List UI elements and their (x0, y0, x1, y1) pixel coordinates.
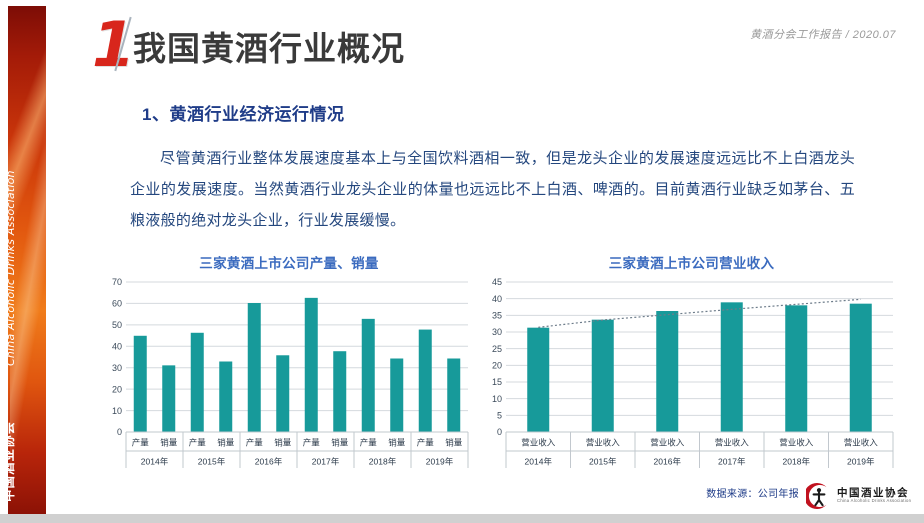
svg-text:15: 15 (492, 377, 502, 387)
svg-text:产量: 产量 (303, 437, 321, 447)
body-paragraph: 尽管黄酒行业整体发展速度基本上与全国饮料酒相一致，但是龙头企业的发展速度远远比不… (130, 143, 855, 236)
svg-text:30: 30 (492, 327, 502, 337)
logo-mark-svg (806, 483, 832, 509)
svg-text:10: 10 (112, 406, 122, 416)
svg-text:5: 5 (497, 411, 502, 421)
svg-text:0: 0 (497, 427, 502, 437)
svg-text:2014年: 2014年 (525, 456, 553, 466)
chart-operating-revenue: 三家黄酒上市公司营业收入 051015202530354045营业收入营业收入营… (484, 252, 899, 467)
svg-text:销量: 销量 (217, 437, 235, 447)
svg-text:产量: 产量 (417, 437, 435, 447)
svg-text:营业收入: 营业收入 (586, 437, 621, 447)
svg-text:2018年: 2018年 (783, 456, 811, 466)
svg-text:10: 10 (492, 394, 502, 404)
svg-text:2016年: 2016年 (255, 456, 283, 466)
svg-text:销量: 销量 (331, 437, 349, 447)
svg-text:50: 50 (112, 320, 122, 330)
svg-text:2019年: 2019年 (847, 456, 875, 466)
svg-text:2015年: 2015年 (589, 456, 617, 466)
chart-svg-right: 051015202530354045营业收入营业收入营业收入营业收入营业收入营业… (484, 276, 899, 468)
svg-text:0: 0 (117, 427, 122, 437)
chart-title-production-sales: 三家黄酒上市公司产量、销量 (104, 252, 474, 272)
svg-text:40: 40 (112, 341, 122, 351)
svg-text:营业收入: 营业收入 (844, 437, 879, 447)
association-logo-text: 中国酒业协会 China Alcoholic Drinks Associatio… (837, 488, 911, 503)
svg-text:60: 60 (112, 299, 122, 309)
svg-text:25: 25 (492, 344, 502, 354)
svg-text:35: 35 (492, 311, 502, 321)
svg-text:70: 70 (112, 277, 122, 287)
svg-text:产量: 产量 (246, 437, 264, 447)
svg-text:销量: 销量 (445, 437, 463, 447)
sidebar-org-name-en: China Alcoholic Drinks Association (8, 170, 17, 366)
svg-text:销量: 销量 (274, 437, 292, 447)
data-source-note: 数据来源：公司年报 (706, 485, 799, 500)
svg-text:产量: 产量 (189, 437, 207, 447)
svg-text:2014年: 2014年 (141, 456, 169, 466)
chart-plot-area-left: 010203040506070产量销量产量销量产量销量产量销量产量销量产量销量2… (104, 276, 474, 468)
svg-text:20: 20 (112, 384, 122, 394)
sidebar-brand-bar: China Alcoholic Drinks Association 中国酒业协… (8, 6, 46, 514)
svg-text:2015年: 2015年 (198, 456, 226, 466)
svg-text:2017年: 2017年 (312, 456, 340, 466)
svg-text:2017年: 2017年 (718, 456, 746, 466)
chart-production-sales: 三家黄酒上市公司产量、销量 010203040506070产量销量产量销量产量销… (104, 252, 474, 467)
association-logo-icon (806, 483, 832, 509)
header-report-meta: 黄酒分会工作报告 / 2020.07 (750, 26, 896, 42)
page-title: 我国黄酒行业概况 (133, 22, 405, 70)
logo-name-en: China Alcoholic Drinks Association (837, 499, 911, 503)
slide-bottom-strip (0, 514, 924, 523)
svg-text:20: 20 (492, 361, 502, 371)
svg-text:产量: 产量 (360, 437, 378, 447)
svg-text:30: 30 (112, 363, 122, 373)
section-subtitle: 1、黄酒行业经济运行情况 (142, 100, 344, 125)
svg-text:2019年: 2019年 (426, 456, 454, 466)
svg-text:销量: 销量 (160, 437, 178, 447)
svg-text:2018年: 2018年 (369, 456, 397, 466)
svg-text:销量: 销量 (388, 437, 406, 447)
slide-canvas: China Alcoholic Drinks Association 中国酒业协… (0, 0, 924, 523)
svg-text:40: 40 (492, 294, 502, 304)
chart-title-operating-revenue: 三家黄酒上市公司营业收入 (484, 252, 899, 272)
sidebar-org-name-cn: 中国酒业协会 (8, 421, 17, 502)
svg-text:产量: 产量 (132, 437, 150, 447)
chart-plot-area-right: 051015202530354045营业收入营业收入营业收入营业收入营业收入营业… (484, 276, 899, 468)
svg-text:营业收入: 营业收入 (521, 437, 556, 447)
svg-text:营业收入: 营业收入 (650, 437, 685, 447)
svg-text:营业收入: 营业收入 (779, 437, 814, 447)
association-logo: 中国酒业协会 China Alcoholic Drinks Associatio… (806, 481, 906, 511)
chart-svg-left: 010203040506070产量销量产量销量产量销量产量销量产量销量产量销量2… (104, 276, 474, 468)
svg-text:45: 45 (492, 277, 502, 287)
svg-text:营业收入: 营业收入 (715, 437, 750, 447)
svg-text:2016年: 2016年 (654, 456, 682, 466)
